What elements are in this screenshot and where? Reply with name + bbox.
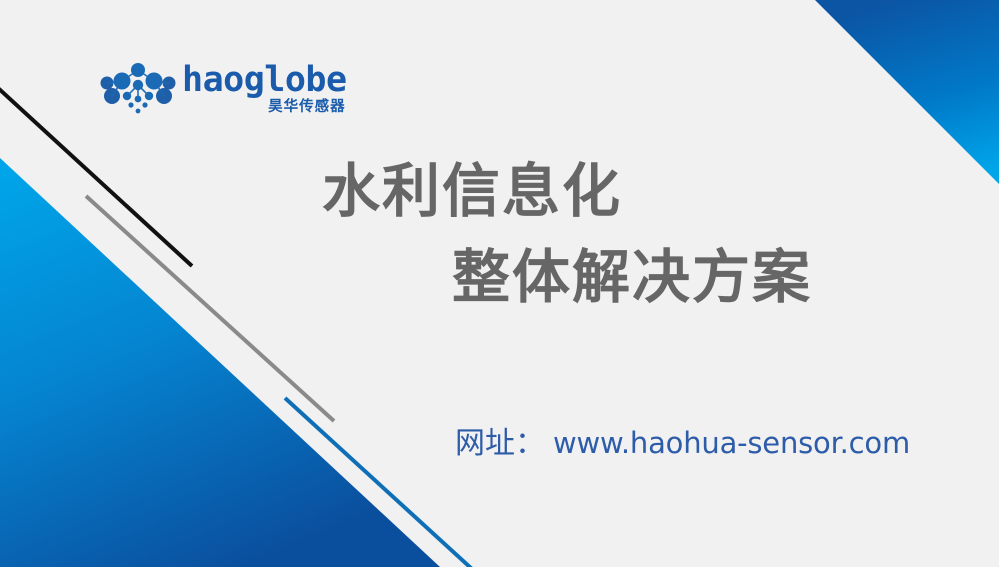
logo-wordmark: haoglobe xyxy=(182,64,347,97)
url-label: 网址： xyxy=(455,418,545,462)
website-url: 网址： www.haohua-sensor.com xyxy=(455,418,910,462)
url-value[interactable]: www.haohua-sensor.com xyxy=(553,426,910,460)
presentation-title-slide: haoglobe 昊华传感器 水利信息化 整体解决方案 网址： www.haoh… xyxy=(0,0,999,567)
title-line-2: 整体解决方案 xyxy=(452,246,999,308)
logo-subtitle-chinese: 昊华传感器 xyxy=(268,100,346,115)
title-line-1: 水利信息化 xyxy=(322,160,999,222)
page-title: 水利信息化 整体解决方案 xyxy=(0,160,999,308)
haoglobe-network-dots-icon xyxy=(100,61,176,117)
brand-logo: haoglobe 昊华传感器 xyxy=(100,58,330,120)
logo-text-group: haoglobe 昊华传感器 xyxy=(182,64,347,115)
